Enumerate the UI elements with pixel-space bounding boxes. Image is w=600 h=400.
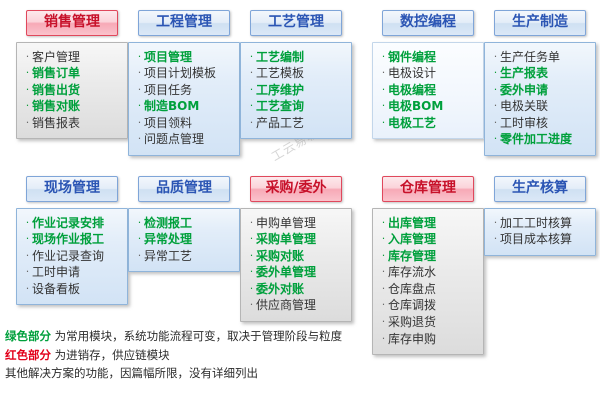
module-production-costing: 生产核算·加工工时核算·项目成本核算: [484, 176, 596, 256]
module-item[interactable]: ·检测报工: [135, 215, 235, 232]
module-item-label: 异常工艺: [144, 248, 192, 265]
bullet-icon: ·: [247, 82, 256, 97]
bullet-icon: ·: [247, 215, 256, 230]
legend-text: 其他解决方案的功能，因篇幅所限，没有详细列出: [5, 366, 258, 380]
module-item-label: 入库管理: [388, 231, 436, 248]
legend-text: 为进销存，供应链模块: [55, 348, 170, 362]
bullet-icon: ·: [379, 264, 388, 279]
module-item[interactable]: ·电极设计: [379, 65, 479, 82]
module-item-label: 电极BOM: [388, 98, 443, 115]
legend-line: 绿色部分 为常用模块，系统功能流程可变，取决于管理阶段与粒度: [5, 327, 342, 346]
bullet-icon: ·: [23, 281, 32, 296]
bullet-icon: ·: [247, 264, 256, 279]
bullet-icon: ·: [491, 231, 500, 246]
module-item-label: 出库管理: [388, 215, 436, 232]
module-item[interactable]: ·制造BOM: [135, 98, 235, 115]
module-item[interactable]: ·异常处理: [135, 231, 235, 248]
module-header-warehouse-management[interactable]: 仓库管理: [382, 176, 474, 202]
bullet-icon: ·: [135, 115, 144, 130]
module-header-shopfloor-management[interactable]: 现场管理: [26, 176, 118, 202]
module-header-sales-management[interactable]: 销售管理: [26, 10, 118, 36]
module-item-label: 加工工时核算: [500, 215, 572, 232]
bullet-icon: ·: [379, 98, 388, 113]
module-item[interactable]: ·采购对账: [247, 248, 347, 265]
bullet-icon: ·: [247, 49, 256, 64]
module-item[interactable]: ·采购单管理: [247, 231, 347, 248]
module-item-label: 检测报工: [144, 215, 192, 232]
module-item[interactable]: ·作业记录安排: [23, 215, 123, 232]
module-items-production-manufacturing: ·生产任务单·生产报表·委外申请·电极关联·工时审核·零件加工进度: [484, 42, 596, 156]
legend-key: 红色部分: [5, 348, 51, 362]
module-header-purchasing-outsourcing[interactable]: 采购/委外: [250, 176, 342, 202]
bullet-icon: ·: [247, 281, 256, 296]
module-process-management: 工艺管理·工艺编制·工艺模板·工序维护·工艺查询·产品工艺: [240, 10, 352, 139]
module-item[interactable]: ·销售对账: [23, 98, 123, 115]
bullet-icon: ·: [135, 49, 144, 64]
bullet-icon: ·: [491, 49, 500, 64]
module-item[interactable]: ·库存申购: [379, 331, 479, 348]
module-item[interactable]: ·设备看板: [23, 281, 123, 298]
module-header-engineering-management[interactable]: 工程管理: [138, 10, 230, 36]
module-item-label: 销售出货: [32, 82, 80, 99]
legend-key: 绿色部分: [5, 329, 51, 343]
module-item[interactable]: ·工时申请: [23, 264, 123, 281]
module-item-label: 委外对账: [256, 281, 304, 298]
bullet-icon: ·: [23, 248, 32, 263]
bullet-icon: ·: [135, 131, 144, 146]
module-item[interactable]: ·产品工艺: [247, 115, 347, 132]
module-header-quality-management[interactable]: 品质管理: [138, 176, 230, 202]
module-item-label: 异常处理: [144, 231, 192, 248]
module-item-label: 问题点管理: [144, 131, 204, 148]
module-item[interactable]: ·电极编程: [379, 82, 479, 99]
bullet-icon: ·: [491, 82, 500, 97]
module-items-engineering-management: ·项目管理·项目计划模板·项目任务·制造BOM·项目领料·问题点管理: [128, 42, 240, 156]
module-item-label: 作业记录安排: [32, 215, 104, 232]
module-item-label: 委外单管理: [256, 264, 316, 281]
legend-text: 为常用模块，系统功能流程可变，取决于管理阶段与粒度: [55, 329, 343, 343]
module-item-label: 工艺编制: [256, 49, 304, 66]
module-header-production-manufacturing[interactable]: 生产制造: [494, 10, 586, 36]
bullet-icon: ·: [379, 115, 388, 130]
bullet-icon: ·: [379, 281, 388, 296]
module-item-label: 销售订单: [32, 65, 80, 82]
legend-line: 其他解决方案的功能，因篇幅所限，没有详细列出: [5, 364, 342, 383]
module-items-quality-management: ·检测报工·异常处理·异常工艺: [128, 208, 240, 273]
module-quality-management: 品质管理·检测报工·异常处理·异常工艺: [128, 176, 240, 272]
module-item-label: 库存管理: [388, 248, 436, 265]
bullet-icon: ·: [135, 248, 144, 263]
module-item[interactable]: ·加工工时核算: [491, 215, 591, 232]
module-header-nc-programming[interactable]: 数控编程: [382, 10, 474, 36]
module-item-label: 零件加工进度: [500, 131, 572, 148]
module-item-label: 钢件编程: [388, 49, 436, 66]
module-item-label: 采购退货: [388, 314, 436, 331]
module-item-label: 仓库调拨: [388, 297, 436, 314]
module-item-label: 作业记录查询: [32, 248, 104, 265]
bullet-icon: ·: [135, 215, 144, 230]
module-item[interactable]: ·电极BOM: [379, 98, 479, 115]
module-item-label: 工时审核: [500, 115, 548, 132]
module-items-production-costing: ·加工工时核算·项目成本核算: [484, 208, 596, 256]
bullet-icon: ·: [247, 248, 256, 263]
module-item-label: 委外申请: [500, 82, 548, 99]
module-item[interactable]: ·仓库调拨: [379, 297, 479, 314]
module-item-label: 仓库盘点: [388, 281, 436, 298]
bullet-icon: ·: [379, 215, 388, 230]
bullet-icon: ·: [491, 215, 500, 230]
module-item-label: 项目管理: [144, 49, 192, 66]
module-item-label: 销售对账: [32, 98, 80, 115]
module-item-label: 供应商管理: [256, 297, 316, 314]
module-item[interactable]: ·项目管理: [135, 49, 235, 66]
legend: 绿色部分 为常用模块，系统功能流程可变，取决于管理阶段与粒度红色部分 为进销存，…: [5, 327, 342, 383]
module-item-label: 制造BOM: [144, 98, 199, 115]
module-item-label: 项目计划模板: [144, 65, 216, 82]
module-purchasing-outsourcing: 采购/委外·申购单管理·采购单管理·采购对账·委外单管理·委外对账·供应商管理: [240, 176, 352, 322]
module-item-label: 设备看板: [32, 281, 80, 298]
module-item-label: 产品工艺: [256, 115, 304, 132]
module-item[interactable]: ·作业记录查询: [23, 248, 123, 265]
module-item[interactable]: ·库存管理: [379, 248, 479, 265]
bullet-icon: ·: [247, 231, 256, 246]
module-item[interactable]: ·工艺查询: [247, 98, 347, 115]
module-header-process-management[interactable]: 工艺管理: [250, 10, 342, 36]
module-item[interactable]: ·问题点管理: [135, 131, 235, 148]
module-item[interactable]: ·项目成本核算: [491, 231, 591, 248]
bullet-icon: ·: [247, 98, 256, 113]
module-nc-programming: 数控编程·钢件编程·电极设计·电极编程·电极BOM·电极工艺: [372, 10, 484, 139]
module-item-label: 现场作业报工: [32, 231, 104, 248]
module-warehouse-management: 仓库管理·出库管理·入库管理·库存管理·库存流水·仓库盘点·仓库调拨·采购退货·…: [372, 176, 484, 355]
module-item-label: 工序维护: [256, 82, 304, 99]
module-item-label: 工艺查询: [256, 98, 304, 115]
bullet-icon: ·: [491, 65, 500, 80]
bullet-icon: ·: [23, 115, 32, 130]
module-items-warehouse-management: ·出库管理·入库管理·库存管理·库存流水·仓库盘点·仓库调拨·采购退货·库存申购: [372, 208, 484, 355]
bullet-icon: ·: [135, 82, 144, 97]
module-item[interactable]: ·项目领料: [135, 115, 235, 132]
module-item-label: 项目领料: [144, 115, 192, 132]
module-item[interactable]: ·委外单管理: [247, 264, 347, 281]
module-item-label: 库存申购: [388, 331, 436, 348]
bullet-icon: ·: [247, 115, 256, 130]
module-item-label: 生产报表: [500, 65, 548, 82]
module-item-label: 项目成本核算: [500, 231, 572, 248]
erp-module-map: 工云易软件传媒 销售管理·客户管理·销售订单·销售出货·销售对账·销售报表工程管…: [0, 0, 600, 400]
module-item[interactable]: ·销售订单: [23, 65, 123, 82]
module-item[interactable]: ·现场作业报工: [23, 231, 123, 248]
module-sales-management: 销售管理·客户管理·销售订单·销售出货·销售对账·销售报表: [16, 10, 128, 139]
module-item[interactable]: ·仓库盘点: [379, 281, 479, 298]
module-item[interactable]: ·生产任务单: [491, 49, 591, 66]
module-item-label: 生产任务单: [500, 49, 560, 66]
module-items-nc-programming: ·钢件编程·电极设计·电极编程·电极BOM·电极工艺: [372, 42, 484, 140]
module-item-label: 工艺模板: [256, 65, 304, 82]
module-item[interactable]: ·客户管理: [23, 49, 123, 66]
bullet-icon: ·: [23, 82, 32, 97]
module-item[interactable]: ·供应商管理: [247, 297, 347, 314]
module-item[interactable]: ·项目任务: [135, 82, 235, 99]
module-item-label: 电极设计: [388, 65, 436, 82]
module-items-purchasing-outsourcing: ·申购单管理·采购单管理·采购对账·委外单管理·委外对账·供应商管理: [240, 208, 352, 322]
bullet-icon: ·: [135, 98, 144, 113]
module-item[interactable]: ·电极关联: [491, 98, 591, 115]
module-item[interactable]: ·委外申请: [491, 82, 591, 99]
bullet-icon: ·: [379, 297, 388, 312]
bullet-icon: ·: [23, 264, 32, 279]
bullet-icon: ·: [135, 65, 144, 80]
bullet-icon: ·: [379, 314, 388, 329]
module-item[interactable]: ·工艺模板: [247, 65, 347, 82]
module-item-label: 工时申请: [32, 264, 80, 281]
module-item[interactable]: ·零件加工进度: [491, 131, 591, 148]
bullet-icon: ·: [379, 331, 388, 346]
bullet-icon: ·: [491, 115, 500, 130]
module-item-label: 采购对账: [256, 248, 304, 265]
bullet-icon: ·: [23, 49, 32, 64]
bullet-icon: ·: [379, 65, 388, 80]
bullet-icon: ·: [247, 65, 256, 80]
module-item[interactable]: ·工时审核: [491, 115, 591, 132]
module-item[interactable]: ·工序维护: [247, 82, 347, 99]
module-item[interactable]: ·入库管理: [379, 231, 479, 248]
module-items-sales-management: ·客户管理·销售订单·销售出货·销售对账·销售报表: [16, 42, 128, 140]
bullet-icon: ·: [491, 131, 500, 146]
legend-line: 红色部分 为进销存，供应链模块: [5, 346, 342, 365]
module-item[interactable]: ·钢件编程: [379, 49, 479, 66]
module-item-label: 库存流水: [388, 264, 436, 281]
bullet-icon: ·: [491, 98, 500, 113]
module-item-label: 电极工艺: [388, 115, 436, 132]
bullet-icon: ·: [379, 82, 388, 97]
bullet-icon: ·: [23, 231, 32, 246]
module-engineering-management: 工程管理·项目管理·项目计划模板·项目任务·制造BOM·项目领料·问题点管理: [128, 10, 240, 156]
bullet-icon: ·: [379, 248, 388, 263]
module-item-label: 客户管理: [32, 49, 80, 66]
module-shopfloor-management: 现场管理·作业记录安排·现场作业报工·作业记录查询·工时申请·设备看板: [16, 176, 128, 305]
bullet-icon: ·: [135, 231, 144, 246]
module-item[interactable]: ·电极工艺: [379, 115, 479, 132]
module-item[interactable]: ·委外对账: [247, 281, 347, 298]
module-item[interactable]: ·销售报表: [23, 115, 123, 132]
module-item-label: 电极关联: [500, 98, 548, 115]
bullet-icon: ·: [23, 98, 32, 113]
bullet-icon: ·: [23, 65, 32, 80]
module-item-label: 项目任务: [144, 82, 192, 99]
module-item[interactable]: ·异常工艺: [135, 248, 235, 265]
bullet-icon: ·: [379, 49, 388, 64]
module-item[interactable]: ·库存流水: [379, 264, 479, 281]
module-item[interactable]: ·生产报表: [491, 65, 591, 82]
module-item[interactable]: ·项目计划模板: [135, 65, 235, 82]
module-item-label: 申购单管理: [256, 215, 316, 232]
module-items-shopfloor-management: ·作业记录安排·现场作业报工·作业记录查询·工时申请·设备看板: [16, 208, 128, 306]
module-item-label: 采购单管理: [256, 231, 316, 248]
module-item[interactable]: ·出库管理: [379, 215, 479, 232]
bullet-icon: ·: [379, 231, 388, 246]
module-item-label: 销售报表: [32, 115, 80, 132]
module-header-production-costing[interactable]: 生产核算: [494, 176, 586, 202]
module-item[interactable]: ·销售出货: [23, 82, 123, 99]
module-item[interactable]: ·采购退货: [379, 314, 479, 331]
module-item-label: 电极编程: [388, 82, 436, 99]
module-item[interactable]: ·申购单管理: [247, 215, 347, 232]
module-production-manufacturing: 生产制造·生产任务单·生产报表·委外申请·电极关联·工时审核·零件加工进度: [484, 10, 596, 156]
module-items-process-management: ·工艺编制·工艺模板·工序维护·工艺查询·产品工艺: [240, 42, 352, 140]
bullet-icon: ·: [247, 297, 256, 312]
module-item[interactable]: ·工艺编制: [247, 49, 347, 66]
bullet-icon: ·: [23, 215, 32, 230]
